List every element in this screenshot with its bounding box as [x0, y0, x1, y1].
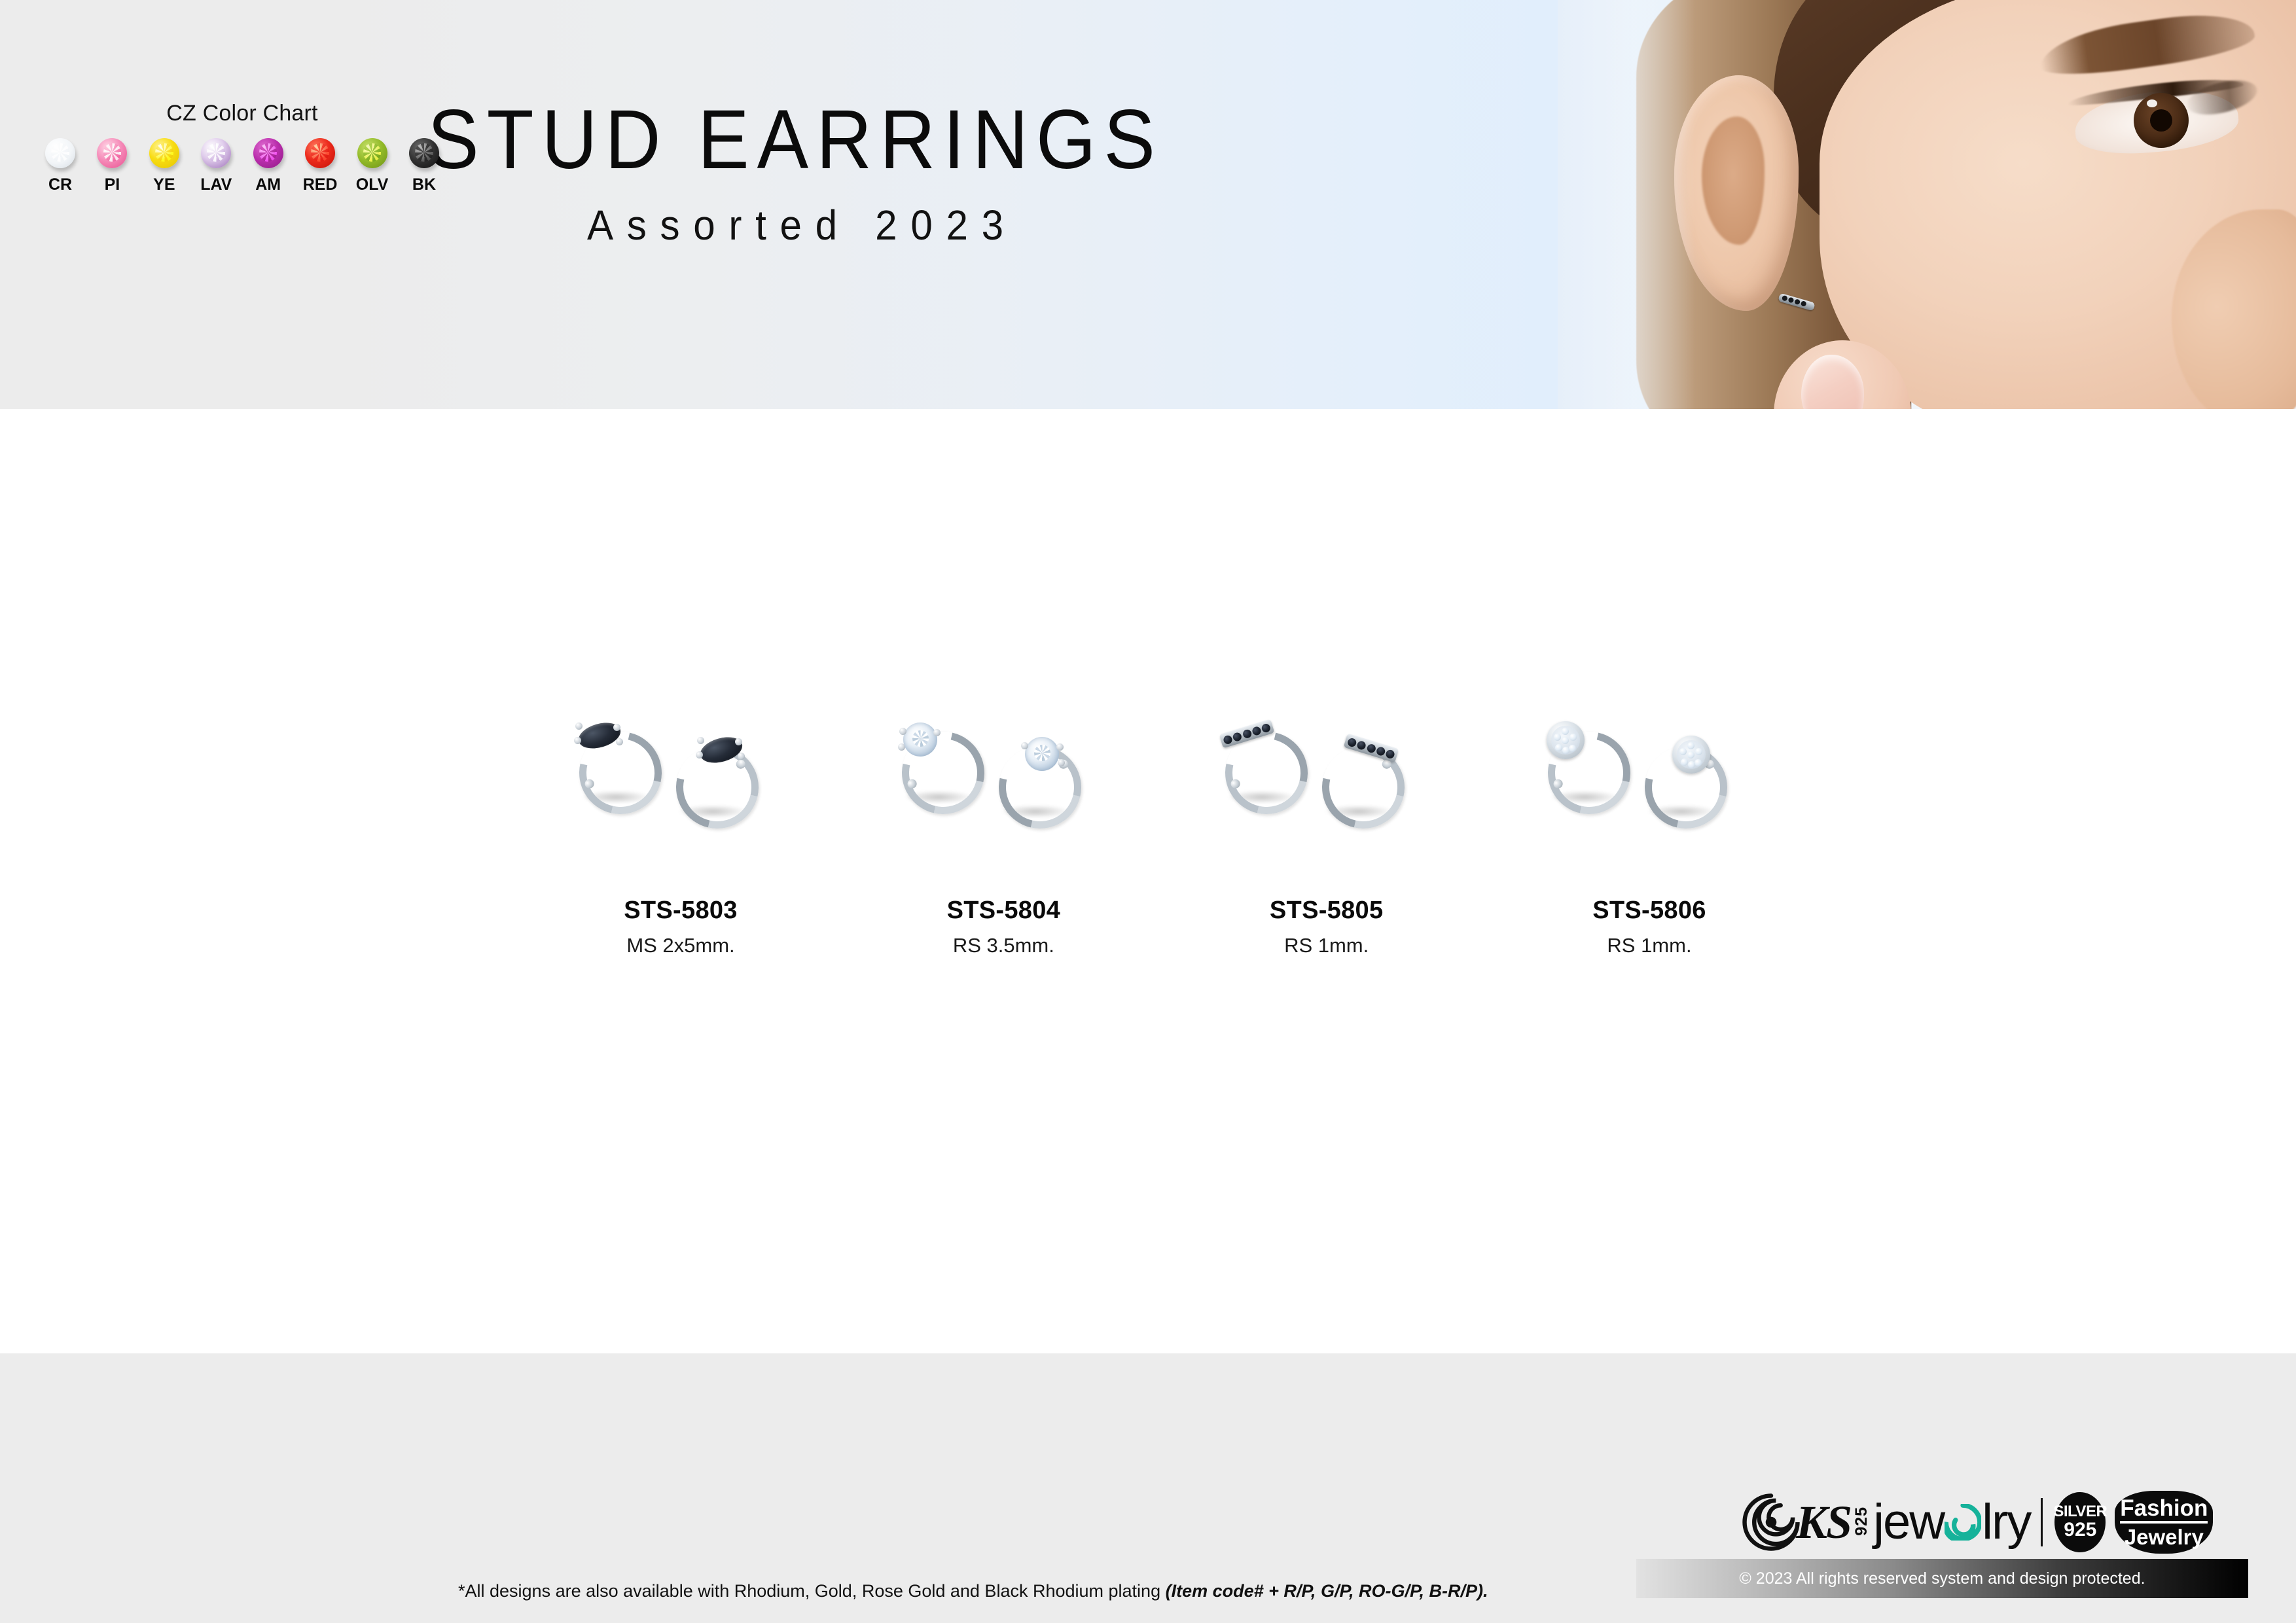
spiral-ornament-icon — [1741, 1492, 1801, 1552]
product-card[interactable]: STS-5805 RS 1mm. — [1183, 694, 1471, 957]
disclaimer-codes: (Item code# + R/P, G/P, RO-G/P, B-R/P). — [1166, 1581, 1488, 1601]
copyright-bar: © 2023 All rights reserved system and de… — [1636, 1559, 2248, 1598]
silver-925-badge: SILVER 925 — [2054, 1492, 2106, 1552]
product-code: STS-5806 — [1592, 897, 1706, 925]
plating-disclaimer: *All designs are also available with Rho… — [458, 1581, 1488, 1601]
disclaimer-text: *All designs are also available with Rho… — [458, 1581, 1166, 1601]
badge-fashion-label: Fashion — [2120, 1497, 2208, 1524]
page-subtitle: Assorted 2023 — [48, 204, 1543, 246]
product-image-sts-5804 — [895, 694, 1111, 857]
badge-silver-label: SILVER — [2053, 1504, 2107, 1520]
model-photo — [1558, 0, 2296, 409]
product-image-sts-5803 — [573, 694, 789, 857]
earring-left-icon — [1541, 720, 1625, 804]
product-size: RS 1mm. — [1284, 934, 1369, 957]
brand-ks-text: KS — [1796, 1499, 1851, 1546]
gem-icon — [97, 138, 127, 168]
jewelry-text-part1: jew — [1873, 1497, 1944, 1547]
header-banner: STUD EARRINGS Assorted 2023 — [0, 0, 2296, 409]
cz-swatch-pi[interactable]: PI — [91, 138, 133, 194]
cz-swatch-label: YE — [153, 175, 175, 194]
cz-swatch-label: CR — [48, 175, 72, 194]
copyright-text: © 2023 All rights reserved system and de… — [1739, 1569, 2145, 1588]
product-grid: STS-5803 MS 2x5mm. STS-5804 RS 3 — [537, 694, 1793, 957]
fashion-jewelry-badge: Fashion Jewelry — [2115, 1491, 2213, 1554]
gem-icon — [45, 138, 75, 168]
earring-right-icon — [1638, 734, 1722, 818]
cz-swatch-am[interactable]: AM — [247, 138, 289, 194]
cz-swatch-lav[interactable]: LAV — [195, 138, 237, 194]
gem-icon — [149, 138, 179, 168]
cz-swatch-ye[interactable]: YE — [143, 138, 185, 194]
cz-swatch-label: PI — [105, 175, 120, 194]
product-image-sts-5805 — [1219, 694, 1435, 857]
brand-jewelry-text: jew lry — [1873, 1497, 2030, 1547]
brand-logo[interactable]: KS 925 jew lry SILVER 925 Fashion Jewelr… — [1741, 1487, 2258, 1558]
cz-swatch-olv[interactable]: OLV — [351, 138, 393, 194]
product-card[interactable]: STS-5804 RS 3.5mm. — [859, 694, 1147, 957]
cz-swatch-red[interactable]: RED — [299, 138, 341, 194]
cz-swatch-label: BK — [412, 175, 436, 194]
product-card[interactable]: STS-5806 RS 1mm. — [1505, 694, 1793, 957]
earring-right-icon — [992, 734, 1076, 818]
cz-swatch-label: LAV — [200, 175, 232, 194]
product-code: STS-5804 — [947, 897, 1061, 925]
cz-swatch-row: CR PI YE LAV AM RED OLV BK — [39, 138, 445, 194]
brand-purity-925: 925 — [1852, 1507, 1871, 1536]
cz-swatch-bk[interactable]: BK — [403, 138, 445, 194]
product-card[interactable]: STS-5803 MS 2x5mm. — [537, 694, 825, 957]
product-size: MS 2x5mm. — [626, 934, 734, 957]
teal-swirl-icon — [1945, 1504, 1981, 1541]
badge-jewelry-label: Jewelry — [2125, 1526, 2204, 1548]
product-image-sts-5806 — [1541, 694, 1757, 857]
product-code: STS-5805 — [1270, 897, 1384, 925]
earring-left-icon — [895, 720, 979, 804]
badge-925-label: 925 — [2064, 1520, 2096, 1541]
earring-right-icon — [1316, 734, 1399, 818]
gem-icon — [253, 138, 283, 168]
earring-left-icon — [1219, 720, 1302, 804]
product-size: RS 1mm. — [1607, 934, 1691, 957]
cz-swatch-label: RED — [303, 175, 338, 194]
gem-icon — [409, 138, 439, 168]
cz-swatch-label: OLV — [356, 175, 389, 194]
cz-chart-title: CZ Color Chart — [39, 101, 445, 126]
earring-left-icon — [573, 720, 656, 804]
gem-icon — [305, 138, 335, 168]
earring-right-icon — [670, 734, 753, 818]
model-pupil — [2150, 109, 2172, 132]
gem-icon — [201, 138, 231, 168]
product-size: RS 3.5mm. — [953, 934, 1054, 957]
cz-color-chart: CZ Color Chart CR PI YE LAV AM RED OLV — [39, 101, 445, 194]
cz-swatch-label: AM — [255, 175, 281, 194]
logo-divider — [2041, 1498, 2043, 1546]
product-code: STS-5803 — [624, 897, 738, 925]
jewelry-text-part2: lry — [1982, 1497, 2030, 1547]
gem-icon — [357, 138, 387, 168]
cz-swatch-cr[interactable]: CR — [39, 138, 81, 194]
model-eye-highlight — [2147, 99, 2157, 107]
